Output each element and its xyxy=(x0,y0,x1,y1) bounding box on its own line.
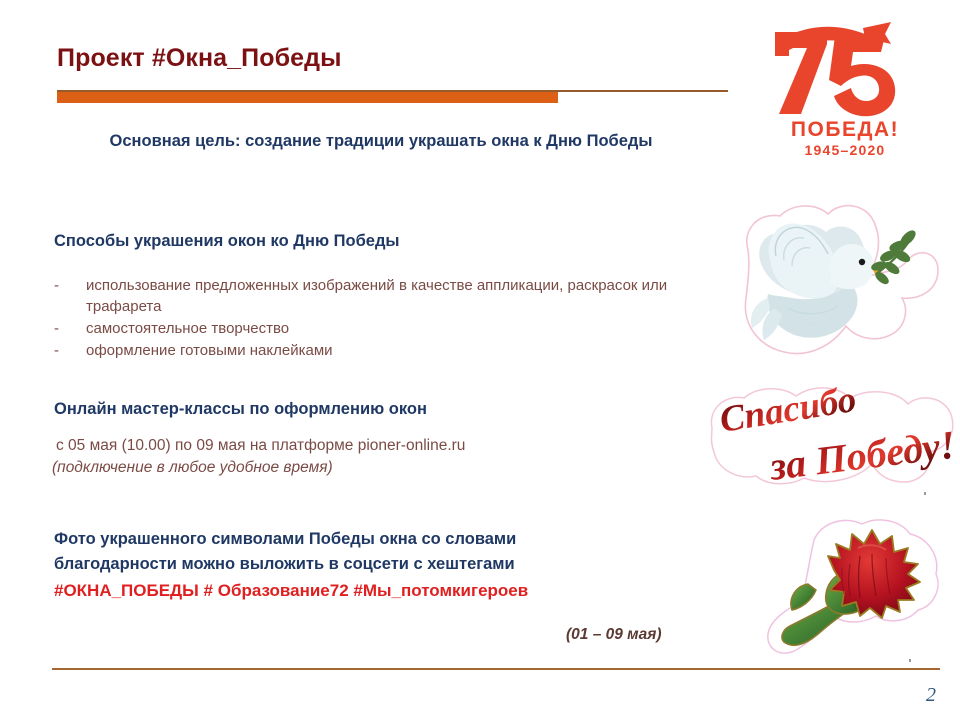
header-accent-bar xyxy=(57,92,558,103)
footer-divider-line xyxy=(52,668,940,670)
cta-line-1: Фото украшенного символами Победы окна с… xyxy=(54,527,714,552)
victory-logo-word: ПОБЕДА! xyxy=(757,118,933,142)
masterclass-schedule-text: с 05 мая (10.00) по 09 мая на платформе … xyxy=(56,437,465,455)
methods-bullet-list: - использование предложенных изображений… xyxy=(52,275,712,362)
list-item-label: оформление готовыми наклейками xyxy=(86,342,333,359)
victory-75-logo: ПОБЕДА! 1945–2020 xyxy=(757,22,933,164)
slide-canvas: Проект #Окна_Победы Основная цель: созда… xyxy=(0,0,960,720)
thanks-for-victory-sticker: Спасибо за Победу! xyxy=(706,384,958,494)
bullet-dash-icon: - xyxy=(54,275,59,296)
cta-hashtags: #ОКНА_ПОБЕДЫ # Образование72 #Мы_потомки… xyxy=(54,577,714,604)
masterclass-note-text: (подключение в любое удобное время) xyxy=(52,459,333,477)
page-number: 2 xyxy=(926,684,936,707)
cta-dates: (01 – 09 мая) xyxy=(566,626,662,644)
dove-sticker xyxy=(726,198,948,370)
dove-with-olive-branch-icon xyxy=(726,198,948,370)
section-heading-methods: Способы украшения окон ко Дню Победы xyxy=(54,232,400,251)
cta-line-2: благодарности можно выложить в соцсети с… xyxy=(54,552,714,577)
victory-75-mark-icon xyxy=(767,22,917,118)
slide-subtitle: Основная цель: создание традиции украшат… xyxy=(57,128,705,154)
bullet-dash-icon: - xyxy=(54,340,59,361)
page-title: Проект #Окна_Победы xyxy=(57,44,342,73)
red-carnation-flower-icon xyxy=(762,512,952,664)
list-item: - использование предложенных изображений… xyxy=(52,275,712,317)
list-item: - самостоятельное творчество xyxy=(52,318,712,339)
list-item: - оформление готовыми наклейками xyxy=(52,340,712,361)
thanks-sticker-icon: Спасибо за Победу! xyxy=(706,384,958,494)
section-heading-masterclass: Онлайн мастер-классы по оформлению окон xyxy=(54,400,427,419)
victory-logo-years: 1945–2020 xyxy=(757,142,933,158)
bullet-dash-icon: - xyxy=(54,318,59,339)
list-item-label: использование предложенных изображений в… xyxy=(86,277,667,315)
call-to-action-block: Фото украшенного символами Победы окна с… xyxy=(54,527,714,604)
carnation-sticker xyxy=(762,512,952,664)
list-item-label: самостоятельное творчество xyxy=(86,320,289,337)
